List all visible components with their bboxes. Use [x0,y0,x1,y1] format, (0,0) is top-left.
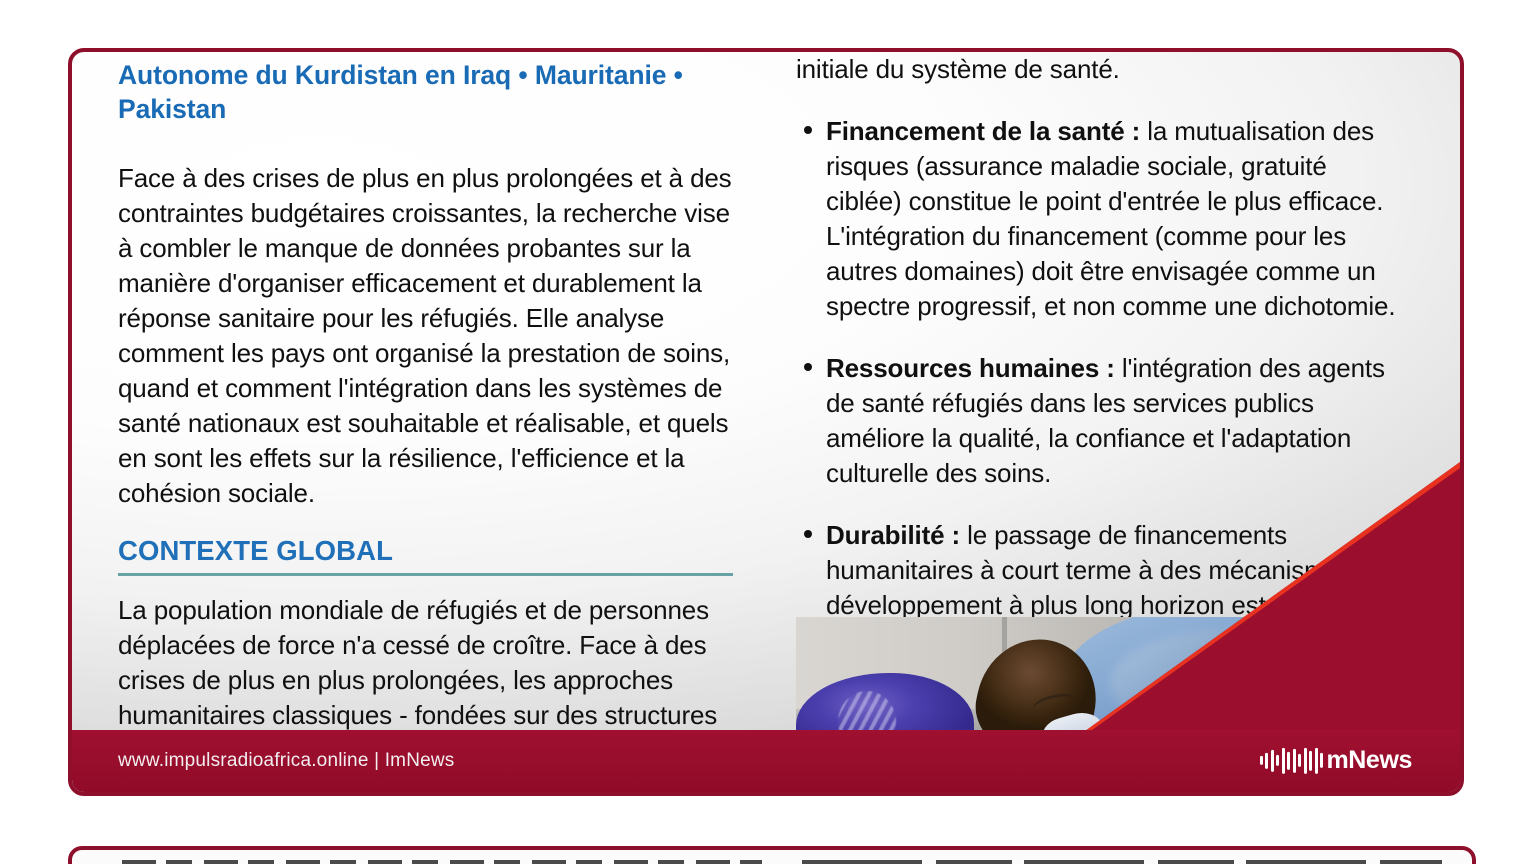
soundwave-bar [1304,747,1307,773]
card-footer: www.impulsradioafrica.online | ImNews mN… [72,730,1460,792]
soundwave-bar [1265,752,1268,768]
left-column: Autonome du Kurdistan en Iraq • Mauritan… [118,52,733,796]
list-item: Ressources humaines : l'intégration des … [796,351,1404,491]
section-heading-rule [118,573,733,576]
bullet-lead: Financement de la santé : [826,116,1140,146]
footer-url[interactable]: www.impulsradioafrica.online | ImNews [118,750,455,772]
soundwave-bar [1287,751,1290,769]
next-card-text-sliver-right [802,860,1442,864]
soundwave-bar [1315,747,1318,773]
intro-paragraph: Face à des crises de plus en plus prolon… [118,161,733,511]
soundwave-bar [1320,753,1323,768]
soundwave-icon [1260,747,1324,773]
bullet-lead: Durabilité : [826,520,960,550]
soundwave-bar [1293,748,1296,772]
news-card: Autonome du Kurdistan en Iraq • Mauritan… [68,48,1464,796]
right-column: initiale du système de santé. Financemen… [796,52,1404,693]
bullet-text: la mutualisation des risques (assurance … [826,116,1395,321]
soundwave-bar [1276,755,1279,766]
brand-label: mNews [1326,746,1412,775]
soundwave-bar [1298,754,1301,767]
clipped-line-top: initiale du système de santé. [796,52,1404,87]
soundwave-bar [1260,756,1263,765]
next-card-text-sliver-left [122,860,762,864]
list-item: Financement de la santé : la mutualisati… [796,114,1404,324]
soundwave-bar [1271,749,1274,771]
section-heading-contexte-global: CONTEXTE GLOBAL [118,511,733,567]
imnews-logo: mNews [1260,746,1412,775]
next-card-sliver [68,846,1476,864]
key-findings-list: Financement de la santé : la mutualisati… [796,114,1404,693]
bullet-lead: Ressources humaines : [826,353,1115,383]
soundwave-bar [1282,747,1285,773]
soundwave-bar [1309,750,1312,770]
slide-stage: Autonome du Kurdistan en Iraq • Mauritan… [0,0,1536,864]
countries-kicker: Autonome du Kurdistan en Iraq • Mauritan… [118,52,733,127]
